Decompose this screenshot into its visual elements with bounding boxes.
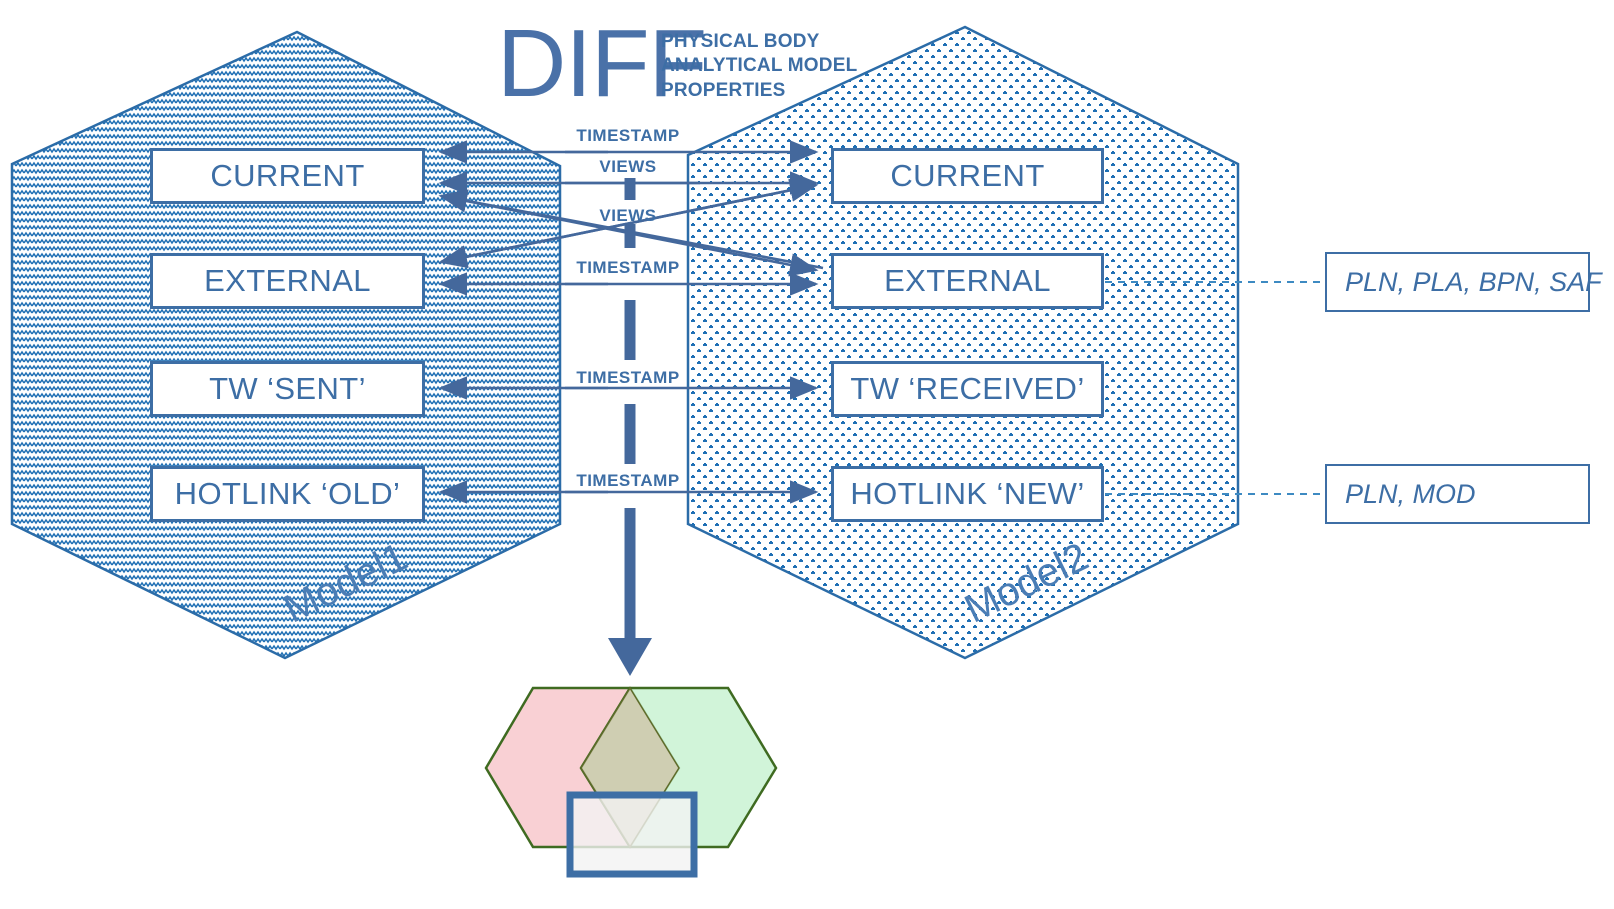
right-box-tw[interactable]: TW ‘RECEIVED’ [831,361,1104,417]
connector-label-c2: VIEWS [599,157,656,177]
right-box-hotlink[interactable]: HOTLINK ‘NEW’ [831,466,1104,522]
connector-label-c6: TIMESTAMP [576,471,679,491]
right-box-current[interactable]: CURRENT [831,148,1104,204]
annotation-box-2[interactable]: PLN, MOD [1325,464,1590,524]
left-model-hexagon[interactable] [12,32,560,658]
diff-down-arrow [608,178,652,676]
connector-label-c1: TIMESTAMP [576,126,679,146]
scene-svg [0,0,1614,909]
right-model-hexagon[interactable] [688,27,1238,658]
result-venn[interactable] [486,688,776,874]
result-rectangle[interactable] [570,795,694,874]
subtitle-line-1: PHYSICAL BODY [661,30,857,54]
subtitle-line-2: ANALYTICAL MODEL [661,54,857,78]
left-box-external[interactable]: EXTERNAL [150,253,425,309]
connector-label-c5: TIMESTAMP [576,368,679,388]
connector-label-c4: TIMESTAMP [576,258,679,278]
diagram-canvas: DIFF PHYSICAL BODY ANALYTICAL MODEL PROP… [0,0,1614,909]
left-box-tw[interactable]: TW ‘SENT’ [150,361,425,417]
left-box-hotlink[interactable]: HOTLINK ‘OLD’ [150,466,425,522]
annotation-box-1[interactable]: PLN, PLA, BPN, SAF [1325,252,1590,312]
connector-label-c3: VIEWS [599,206,656,226]
page-subtitle: PHYSICAL BODY ANALYTICAL MODEL PROPERTIE… [661,30,857,103]
left-box-current[interactable]: CURRENT [150,148,425,204]
subtitle-line-3: PROPERTIES [661,79,857,103]
right-box-external[interactable]: EXTERNAL [831,253,1104,309]
